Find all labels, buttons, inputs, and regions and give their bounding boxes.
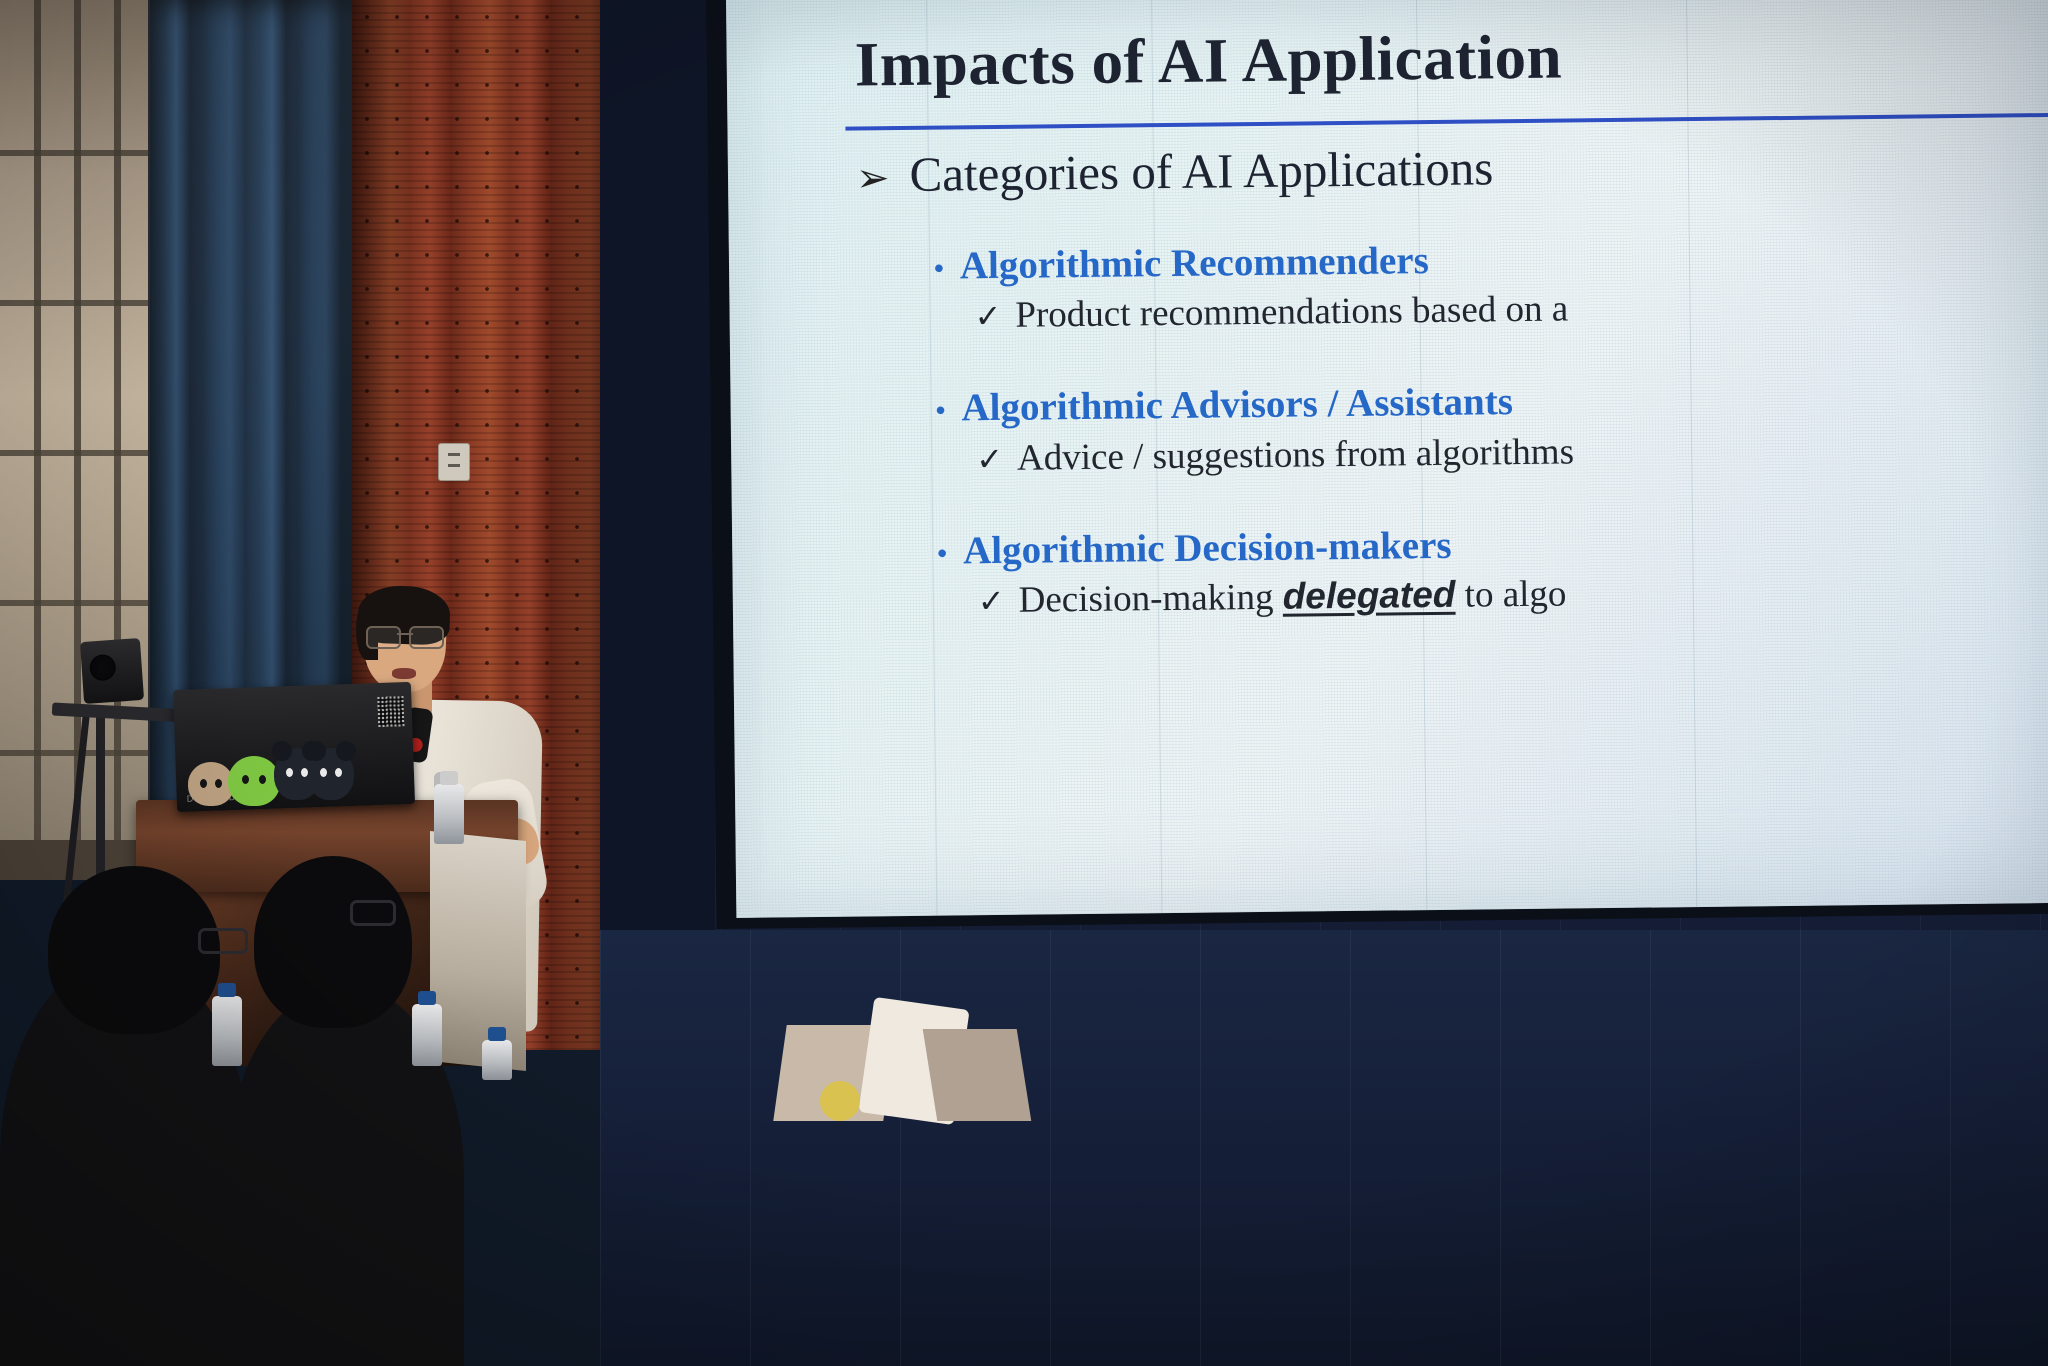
bullet-heading-text-3: Algorithmic Decision-makers — [963, 524, 1452, 573]
title-divider — [845, 113, 2048, 131]
audience-eyeglasses-icon — [198, 928, 248, 954]
slide-subbullet-3: ✓Decision-making delegated to algo — [978, 573, 1567, 623]
podium-front-panel — [430, 831, 526, 1071]
arrow-bullet-icon: ➢ — [856, 154, 890, 201]
subbullet-text-1: Product recommendations based on a — [1015, 288, 1568, 335]
slide-bullet-heading-1: •Algorithmic Recommenders — [934, 238, 1429, 289]
water-bottle[interactable] — [482, 1040, 512, 1080]
audience-eyeglasses-icon — [350, 900, 396, 926]
slide-bullet-heading-3: •Algorithmic Decision-makers — [937, 523, 1452, 574]
qr-code-sticker-icon — [377, 696, 404, 727]
wall-dark-band — [600, 0, 715, 1060]
water-bottle[interactable] — [434, 784, 464, 844]
eyeglasses-icon — [366, 626, 444, 646]
check-bullet-icon: ✓ — [976, 440, 1003, 478]
check-bullet-icon: ✓ — [974, 297, 1001, 335]
dot-bullet-icon: • — [936, 396, 946, 428]
audience-head — [254, 856, 412, 1028]
bullet-heading-text-1: Algorithmic Recommenders — [960, 239, 1429, 287]
speaker-mouth — [392, 668, 416, 679]
water-bottle[interactable] — [412, 1004, 442, 1066]
plush-toy — [228, 756, 280, 806]
slide-bullet-heading-2: •Algorithmic Advisors / Assistants — [935, 379, 1513, 431]
slide-level1-bullet: ➢Categories of AI Applications — [856, 139, 1494, 203]
plush-toy-panda — [308, 748, 354, 800]
subbullet-text-2: Advice / suggestions from algorithms — [1017, 431, 1574, 478]
slide-title: Impacts of AI Application — [854, 14, 2048, 101]
slide: Impacts of AI Application ➢Categories of… — [726, 0, 2048, 918]
presentation-photo: Impacts of AI Application ➢Categories of… — [0, 0, 2048, 1366]
check-bullet-icon: ✓ — [978, 582, 1005, 620]
projection-screen: Impacts of AI Application ➢Categories of… — [726, 0, 2048, 918]
camera-lens-icon — [89, 654, 117, 682]
slide-subbullet-2: ✓Advice / suggestions from algorithms — [976, 430, 1574, 480]
subbullet-emphasis-3: delegated — [1282, 574, 1455, 617]
bullet-heading-text-2: Algorithmic Advisors / Assistants — [961, 380, 1513, 429]
level1-text: Categories of AI Applications — [909, 140, 1493, 202]
subbullet-prefix-3: Decision-making — [1018, 577, 1283, 621]
flower-arrangement — [780, 985, 1030, 1120]
video-camera — [80, 638, 144, 704]
audience-head — [48, 866, 220, 1034]
dot-bullet-icon: • — [934, 254, 944, 286]
water-bottle[interactable] — [212, 996, 242, 1066]
power-outlet[interactable] — [438, 443, 470, 481]
subbullet-suffix-3: to algo — [1455, 574, 1566, 616]
dot-bullet-icon: • — [937, 539, 947, 571]
slide-subbullet-1: ✓Product recommendations based on a — [974, 287, 1568, 337]
